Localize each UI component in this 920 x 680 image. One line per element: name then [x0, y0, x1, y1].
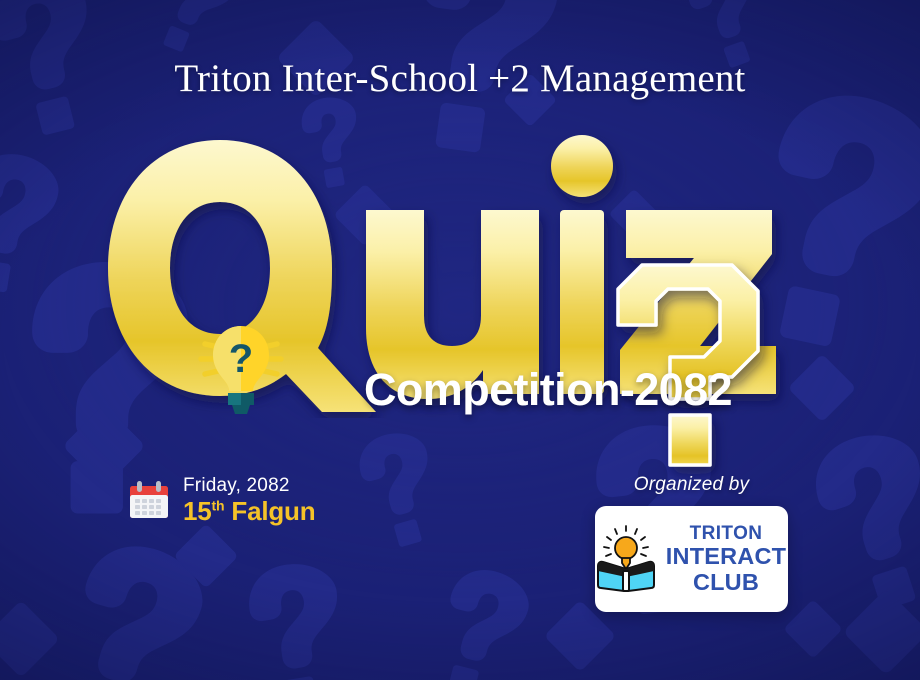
lightbulb-question-icon: ? — [196, 316, 286, 416]
quiz-competition-poster: Triton Inter-School +2 Management — [0, 0, 920, 680]
date-month: Falgun — [231, 496, 315, 526]
logo-line-club: CLUB — [666, 571, 786, 595]
bulb-question-glyph: ? — [229, 337, 253, 381]
logo-line-triton: TRITON — [666, 524, 786, 543]
date-day-suffix: th — [212, 497, 225, 513]
wordmark-letter-i — [551, 135, 613, 394]
date-day-line: Friday, 2082 — [183, 476, 315, 496]
event-title-row: Triton Inter-School +2 Management — [0, 56, 920, 101]
organizer-logo-card[interactable]: TRITON INTERACT CLUB — [595, 506, 788, 612]
date-main-line: 15th Falgun — [183, 498, 315, 526]
calendar-icon — [128, 480, 170, 522]
competition-subtitle: Competition-2082 — [364, 364, 732, 416]
page-title: Triton Inter-School +2 Management — [174, 57, 745, 100]
organizer-block: Organized by — [595, 474, 788, 612]
organizer-logo-wordmark: TRITON INTERACT CLUB — [666, 524, 786, 594]
logo-line-interact: INTERACT — [666, 545, 786, 569]
date-text-group: Friday, 2082 15th Falgun — [183, 476, 315, 526]
book-lightbulb-icon — [595, 525, 657, 593]
organized-by-label: Organized by — [595, 474, 788, 496]
event-date-block: Friday, 2082 15th Falgun — [128, 476, 315, 526]
date-day-number: 15 — [183, 496, 212, 526]
